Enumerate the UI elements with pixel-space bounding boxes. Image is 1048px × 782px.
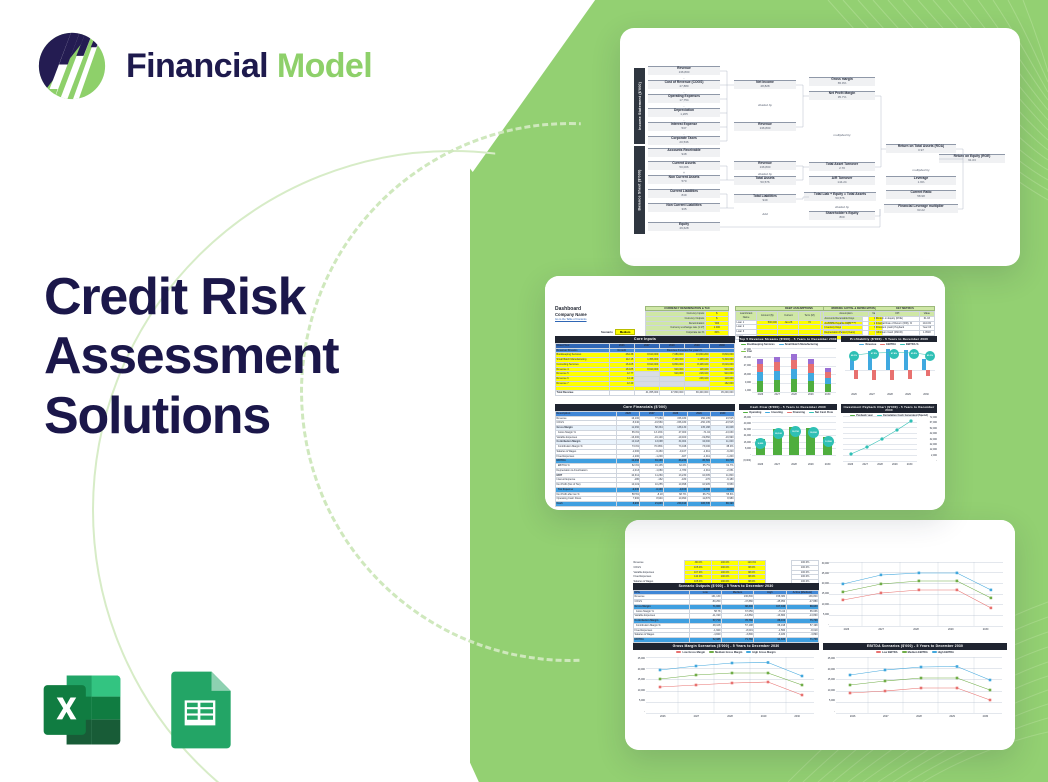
data-label-bubble: 30,200	[808, 427, 819, 438]
bar-stack	[791, 354, 797, 392]
left-content-column: Financial Model Credit Risk Assessment S…	[0, 0, 470, 782]
ebitda-lines	[836, 657, 1002, 713]
payback-chart-title: Investment Payback Chart ($'000) - 5 Yea…	[841, 404, 937, 413]
node-roa: Return on Total Assets (ROA) 0.97	[886, 144, 956, 153]
node-leverage: Leverage 1.9%	[886, 176, 956, 185]
node-current-ratio: Current Ratio 58.98	[886, 190, 956, 199]
data-label-bubble: 12,500	[823, 436, 834, 447]
core-inputs-panel: Core Inputs Cloud Tool202620272028202920…	[555, 336, 735, 396]
scenario-trend-plot	[829, 562, 1003, 626]
scenario-outputs-table: KPIsLowMediumHighActive (Medium) Revenue…	[633, 590, 819, 648]
node-corporate-taxes: Corporate Taxes 20,536	[648, 136, 720, 145]
payback-line	[843, 416, 917, 462]
data-label-bubble: 65.5%	[909, 349, 919, 359]
microsoft-excel-icon[interactable]	[36, 664, 128, 756]
core-financials-title: Core Financials ($'000)	[555, 404, 735, 411]
page-title: Credit Risk Assessment Solutions	[44, 268, 444, 446]
google-sheets-icon[interactable]	[154, 664, 246, 756]
revenue-streams-x-axis: 20262027202820292030	[752, 393, 836, 396]
node-revenue: Revenue 136,800	[648, 66, 720, 75]
ebitda-x-axis: 20262027202820292030	[836, 715, 1002, 718]
pie-chart-circle-logo-icon	[36, 30, 108, 102]
currency-panel-table: Currency Inputs$ Currency Outputs$ Denom…	[645, 311, 729, 336]
operator-add: Add	[734, 212, 796, 216]
node-gross-margin: Gross margin 65.0%	[809, 77, 875, 86]
operator-divided-by-3: divided by	[809, 205, 875, 209]
scenario-sheet: Revenue-80.0%100.0%120.0%100.0% COGS105.…	[625, 520, 1015, 750]
profitability-chart-panel: Profitability ($'000) - 5 Years to Decem…	[841, 336, 937, 398]
scenario-assumptions-table: Revenue-80.0%100.0%120.0%100.0% COGS105.…	[633, 560, 819, 585]
key-metrics-table: KPIValue Return on Equity (ROE)61.03 Int…	[875, 311, 935, 336]
gross-margin-legend: Low Gross Margin Medium Gross Margin Hig…	[633, 650, 819, 655]
headline-line-1: Credit Risk	[44, 268, 444, 327]
payback-y-axis: 72,00067,00052,00042,00032,00022,00012,0…	[923, 416, 937, 462]
scenario-selector[interactable]: Scenario Medium	[601, 329, 635, 335]
financial-dashboard-card[interactable]: Dashboard Company Name Go to the Table o…	[545, 276, 945, 510]
payback-x-axis: 20262027202820292030	[843, 463, 917, 466]
node-current-assets: Current Assets 50,006	[648, 161, 720, 170]
payback-plot	[843, 416, 917, 462]
scenario-trend-lines	[829, 562, 1003, 626]
currency-panel: CURRENCY DENOMINATION & TAX Currency Inp…	[645, 306, 729, 336]
gross-margin-lines	[646, 657, 814, 713]
scenario-value[interactable]: Medium	[615, 329, 636, 335]
cash-flow-legend: Operating Investing Financing Net Cash F…	[739, 410, 837, 415]
revenue-streams-plot	[752, 348, 836, 392]
profitability-x-axis: 20262027202820292030	[845, 393, 935, 396]
brand-name-part1: Financial	[126, 47, 268, 85]
core-financials-table: Description20262027202820292030 Revenue1…	[555, 411, 735, 507]
income-statement-side-label: Income Statement ($'000)	[634, 68, 645, 144]
gross-margin-y-axis: 25,00020,00015,00010,0005,000-	[633, 657, 645, 713]
node-cogs: Cost of Revenue (COGS) 47,880	[648, 80, 720, 89]
headline-line-2: Assessment	[44, 327, 444, 386]
table-row: Total Revenue41,055,00047,800,00039,400,…	[556, 391, 735, 396]
brand-name-part2: Model	[277, 47, 372, 85]
bar-stack	[774, 357, 780, 392]
scenario-assumptions-panel: Revenue-80.0%100.0%120.0%100.0% COGS105.…	[633, 560, 819, 585]
dashboard-subtitle: Company Name	[555, 312, 635, 317]
data-label-bubble: 30,700	[790, 426, 801, 437]
bar-stack	[825, 368, 831, 392]
scenario-label: Scenario	[601, 330, 613, 334]
cash-flow-y-axis: 48,00040,00032,00024,00016,0008,000-(8,0…	[739, 416, 751, 462]
brand-wordmark: Financial Model	[126, 49, 372, 83]
headline-line-3: Solutions	[44, 387, 444, 446]
node-net-profit-margin: Net Profit Margin 35.7%	[809, 91, 875, 100]
minus-symbol-3: -	[648, 104, 720, 108]
node-shareholders-equity: Shareholder's Equity 800	[809, 211, 875, 220]
node-revenue-turnover: Revenue 136,800	[734, 161, 796, 170]
dupont-tree: Income Statement ($'000) Balance Sheet (…	[634, 66, 1006, 236]
node-current-liabilities: Current Liabilities 849	[648, 189, 720, 198]
core-inputs-table: Cloud Tool20262027202820292030 Revenue S…	[555, 343, 735, 396]
ebitda-plot	[836, 657, 1002, 713]
supported-apps	[36, 664, 246, 756]
gross-margin-plot	[646, 657, 814, 713]
dupont-analysis-card[interactable]: Income Statement ($'000) Balance Sheet (…	[620, 28, 1020, 266]
table-of-contents-link[interactable]: Go to the Table of Contents	[555, 318, 635, 321]
ebitda-legend: Low EBITDA Medium EBITDA High EBITDA	[823, 650, 1007, 655]
node-total-asset-turnover: Total Asset Turnover 2.70	[809, 162, 875, 171]
scenario-outputs-title: Scenario Outputs ($'000) - 5 Years to De…	[633, 583, 819, 590]
node-ar-turnover: A/R Turnover 144.24	[809, 176, 875, 185]
key-metrics-panel: KEY METRICS KPIValue Return on Equity (R…	[875, 306, 935, 336]
scenario-trend-x-axis: 20262027202820292030	[829, 628, 1003, 631]
node-equity: Equity 49,628	[648, 222, 720, 231]
scenario-outputs-panel: Scenario Outputs ($'000) - 5 Years to De…	[633, 583, 819, 648]
node-total-assets: Total Assets 50,576	[734, 176, 796, 185]
revenue-streams-y-axis: 47,00038,00027,00018,0009,0001,000	[739, 348, 751, 392]
data-label-bubble: 67.5%	[869, 349, 879, 359]
node-net-income: Net Income 48,828	[734, 80, 796, 89]
ebitda-chart-title: EBITDA Scenarios ($'000) - 5 Years to De…	[823, 643, 1007, 650]
ebitda-y-axis: 25,00020,00015,00010,0005,000-	[823, 657, 835, 713]
node-roe: Return on Equity (ROE) 61.03	[939, 154, 1005, 163]
dashboard-title-block: Dashboard Company Name Go to the Table o…	[555, 306, 635, 321]
bar-group	[752, 348, 836, 392]
revenue-streams-chart-panel: Top 5 Revenue Streams ($'000) - 5 Years …	[739, 336, 837, 398]
cash-flow-chart-panel: Cash Flow ($'000) - 5 Years to December …	[739, 404, 837, 470]
node-total-liabilities: Total Liabilities 949	[734, 194, 796, 203]
data-label-bubble: 67.4%	[889, 349, 899, 359]
balance-sheet-side-label: Balance Sheet ($'000)	[634, 146, 645, 234]
cash-flow-plot: 9,800 26,100 30,700 30,200 12,500	[752, 416, 836, 462]
working-capital-panel: WORKING CAPITAL & DEPRECIATION Assumptio…	[823, 306, 883, 336]
data-label-bubble: 65.1%	[925, 351, 935, 361]
ebitda-scenarios-panel: EBITDA Scenarios ($'000) - 5 Years to De…	[823, 643, 1007, 731]
node-accounts-receivable: Accounts Receivable 948	[648, 148, 720, 157]
operator-divided-by-1: divided by	[734, 103, 796, 107]
node-total-liab-equity: Total Liab + Equity = Total Assets 50,57…	[804, 192, 876, 201]
dashboard-sheet: Dashboard Company Name Go to the Table o…	[545, 276, 945, 510]
node-revenue-denominator: Revenue 136,800	[734, 122, 796, 131]
poster-canvas: Financial Model Credit Risk Assessment S…	[0, 0, 1048, 782]
minus-symbol-5: -	[648, 132, 720, 136]
brand-logo[interactable]: Financial Model	[36, 30, 372, 102]
data-label-bubble: 26,100	[773, 428, 784, 439]
gross-margin-scenarios-panel: Gross Margin Scenarios ($'000) - 5 Years…	[633, 643, 819, 731]
node-non-current-liabilities: Non Current Liabilities 335	[648, 203, 720, 212]
bar-stack	[757, 359, 763, 392]
plus-symbol-1: +	[648, 171, 720, 175]
operator-multiplied-by-2: multiplied by	[886, 168, 956, 172]
bar-stack	[808, 359, 814, 392]
operator-multiplied-by-1: multiplied by	[809, 133, 875, 137]
core-financials-panel: Core Financials ($'000) Description20262…	[555, 404, 735, 507]
minus-symbol-1: -	[648, 76, 720, 80]
node-operating-expenses: Operating Expenses 17,754	[648, 94, 720, 103]
node-depreciation: Depreciation 1,265	[648, 108, 720, 117]
gross-margin-x-axis: 20262027202820292030	[646, 715, 814, 718]
node-financial-leverage-multiplier: Financial Leverage multiplier 63.22	[884, 204, 958, 213]
core-inputs-title: Core Inputs	[555, 336, 735, 343]
gross-margin-chart-title: Gross Margin Scenarios ($'000) - 5 Years…	[633, 643, 819, 650]
data-label-bubble: 9,800	[755, 438, 766, 449]
working-capital-table: AssumptionValue Accounts Receivable Days…	[823, 311, 883, 336]
cash-flow-x-axis: 20262027202820292030	[752, 463, 836, 466]
scenario-analysis-card[interactable]: Revenue-80.0%100.0%120.0%100.0% COGS105.…	[625, 520, 1015, 750]
minus-symbol-4: -	[648, 118, 720, 122]
payback-chart-panel: Investment Payback Chart ($'000) - 5 Yea…	[841, 404, 937, 470]
node-interest-expense: Interest Expense 537	[648, 122, 720, 131]
profitability-legend: Revenue EBITDA EBITDA %	[841, 342, 937, 347]
profitability-plot: 68.1% 67.5% 67.4% 65.5% 65.1%	[845, 348, 935, 392]
node-non-current-assets: Non Current Assets 570	[648, 175, 720, 184]
scenario-trend-chart-panel: 30,00025,00020,00015,00010,0005,000- 202…	[823, 560, 1007, 638]
scenario-trend-y-axis: 30,00025,00020,00015,00010,0005,000-	[817, 562, 829, 626]
table-row: Cash8,90021,900240,190195,74568,190	[556, 502, 735, 507]
minus-symbol-2: -	[648, 90, 720, 94]
data-label-bubble: 68.1%	[849, 351, 859, 361]
